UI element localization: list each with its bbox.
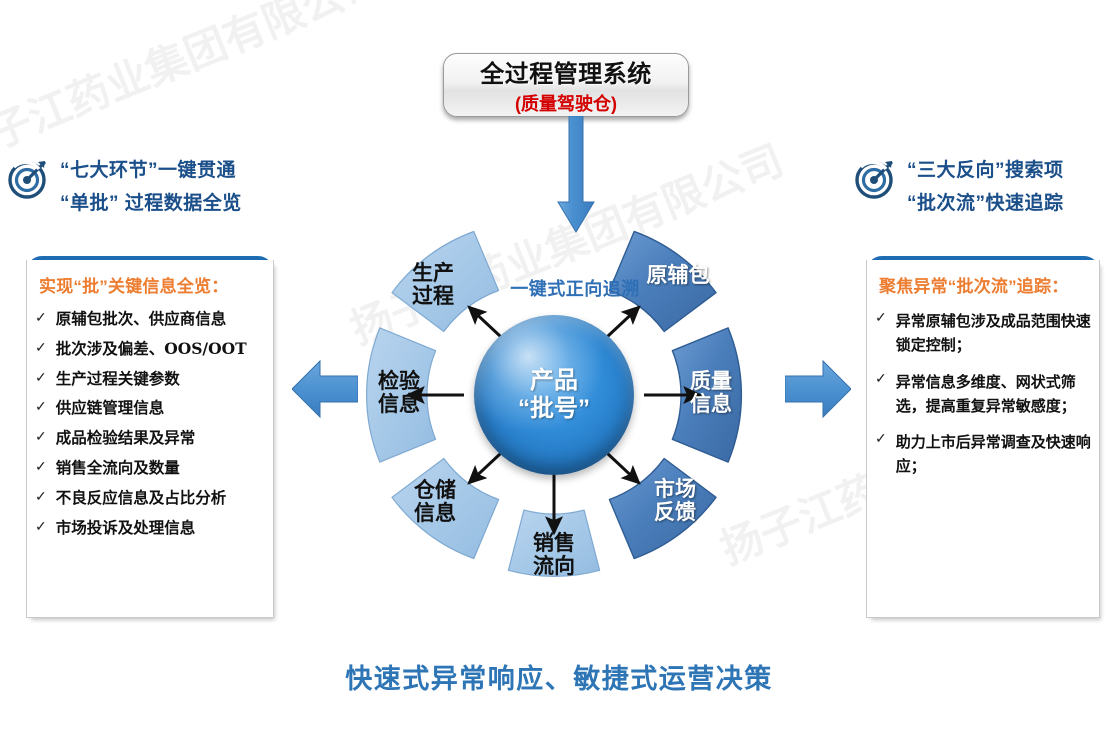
list-item-label: 异常信息多维度、网状式筛选，提高重复异常敏感度； (896, 370, 1093, 419)
diagram-canvas: 扬子江药业集团有限公司 扬子江药业集团有限公司 扬子江药业集团有限 全过程管理系… (0, 0, 1118, 749)
check-icon: ✓ (875, 309, 887, 327)
wheel-segment-production-process (392, 232, 499, 332)
check-icon: ✓ (35, 428, 47, 446)
left-panel-content: 实现“批”关键信息全览： ✓原辅包批次、供应商信息 ✓批次涉及偏差、OOS/OO… (26, 260, 274, 618)
right-panel-content: 聚焦异常“批次流”追踪： ✓异常原辅包涉及成品范围快速锁定控制； ✓异常信息多维… (866, 260, 1100, 618)
left-panel-title: 实现“批”关键信息全览： (39, 272, 267, 297)
list-item-label: 原辅包批次、供应商信息 (56, 309, 227, 329)
list-item: ✓批次涉及偏差、OOS/OOT (35, 339, 267, 359)
headline-right: “三大反向”搜索项 “批次流”快速追踪 (855, 155, 1064, 215)
list-item-label: 批次涉及偏差、OOS/OOT (56, 339, 247, 359)
check-icon: ✓ (875, 370, 887, 388)
list-item: ✓异常原辅包涉及成品范围快速锁定控制； (875, 309, 1093, 358)
system-title-main: 全过程管理系统 (480, 54, 652, 89)
right-panel-title: 聚焦异常“批次流”追踪： (879, 272, 1093, 297)
list-item-label: 供应链管理信息 (56, 398, 165, 418)
check-icon: ✓ (35, 398, 47, 416)
watermark: 扬子江药业集团有限公司 (0, 0, 391, 177)
check-icon: ✓ (35, 369, 47, 387)
list-item: ✓助力上市后异常调查及快速响应； (875, 430, 1093, 479)
check-icon: ✓ (875, 430, 887, 448)
left-info-panel: 实现“批”关键信息全览： ✓原辅包批次、供应商信息 ✓批次涉及偏差、OOS/OO… (8, 238, 284, 636)
list-item: ✓供应链管理信息 (35, 398, 267, 418)
system-title-sub: (质量驾驶仓) (515, 90, 617, 116)
check-icon: ✓ (35, 488, 47, 506)
check-icon: ✓ (35, 518, 47, 536)
check-icon: ✓ (35, 339, 47, 357)
list-item: ✓生产过程关键参数 (35, 369, 267, 389)
headline-right-line1: “三大反向”搜索项 (907, 155, 1064, 182)
right-block-arrow-icon (785, 358, 851, 420)
list-item: ✓成品检验结果及异常 (35, 428, 267, 448)
right-panel-bullet-list: ✓异常原辅包涉及成品范围快速锁定控制； ✓异常信息多维度、网状式筛选，提高重复异… (875, 309, 1093, 479)
hub-line1: 产品 (530, 367, 578, 395)
forward-trace-label: 一键式正向追溯 (485, 275, 665, 301)
right-info-panel: 聚焦异常“批次流”追踪： ✓异常原辅包涉及成品范围快速锁定控制； ✓异常信息多维… (848, 238, 1110, 636)
headline-left-line1: “七大环节”一键贯通 (60, 155, 242, 182)
list-item: ✓销售全流向及数量 (35, 458, 267, 478)
list-item-label: 不良反应信息及占比分析 (56, 488, 227, 508)
wheel-hub: 产品 “批号” (474, 315, 634, 475)
check-icon: ✓ (35, 458, 47, 476)
list-item-label: 市场投诉及处理信息 (56, 518, 196, 538)
list-item: ✓市场投诉及处理信息 (35, 518, 267, 538)
headline-left: “七大环节”一键贯通 “单批” 过程数据全览 (8, 155, 242, 215)
list-item-label: 助力上市后异常调查及快速响应； (896, 430, 1093, 479)
target-icon (855, 157, 897, 199)
target-icon (8, 157, 50, 199)
traceability-wheel: 产品 “批号” 一键式正向追溯 原辅包 质量 信息 市场 反馈 销售 流向 仓储… (330, 215, 780, 635)
headline-left-line2: “单批” 过程数据全览 (60, 188, 242, 215)
headline-right-line2: “批次流”快速追踪 (907, 188, 1064, 215)
hub-line2: “批号” (518, 395, 590, 423)
list-item: ✓异常信息多维度、网状式筛选，提高重复异常敏感度； (875, 370, 1093, 419)
wheel-segment-market-feedback (609, 459, 716, 559)
list-item-label: 异常原辅包涉及成品范围快速锁定控制； (896, 309, 1093, 358)
bottom-tagline: 快速式异常响应、敏捷式运营决策 (0, 657, 1118, 696)
left-panel-bullet-list: ✓原辅包批次、供应商信息 ✓批次涉及偏差、OOS/OOT ✓生产过程关键参数 ✓… (35, 309, 267, 538)
list-item: ✓原辅包批次、供应商信息 (35, 309, 267, 329)
list-item-label: 生产过程关键参数 (56, 369, 180, 389)
list-item: ✓不良反应信息及占比分析 (35, 488, 267, 508)
check-icon: ✓ (35, 309, 47, 327)
list-item-label: 成品检验结果及异常 (56, 428, 196, 448)
system-title-box: 全过程管理系统 (质量驾驶仓) (443, 53, 689, 117)
wheel-segment-warehouse-info (392, 459, 499, 559)
list-item-label: 销售全流向及数量 (56, 458, 180, 478)
